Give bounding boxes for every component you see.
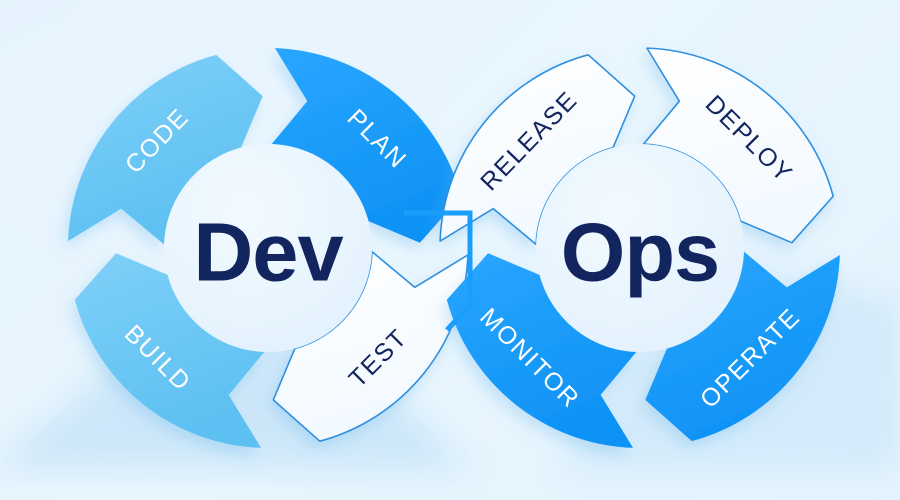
devops-diagram-canvas: DevOps CODEPLANBUILDTESTRELEASEDEPLOYMON… (0, 0, 900, 500)
hub-label-dev: Dev (193, 206, 343, 299)
hub-label-ops: Ops (561, 206, 719, 299)
devops-infinity-svg: DevOps CODEPLANBUILDTESTRELEASEDEPLOYMON… (0, 0, 900, 500)
